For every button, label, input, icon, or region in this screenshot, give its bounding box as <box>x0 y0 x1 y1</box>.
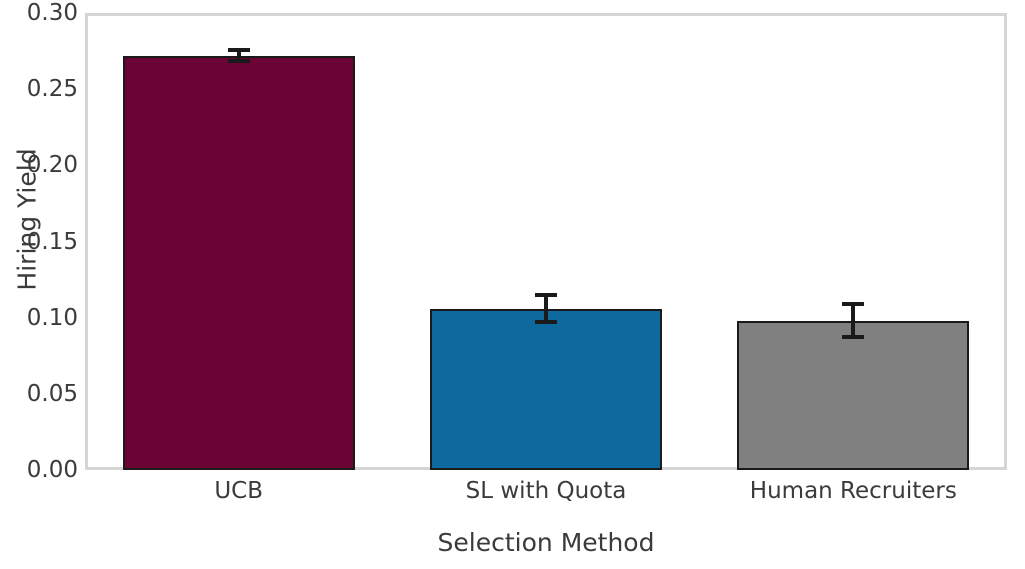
y-tick-label: 0.05 <box>4 383 78 406</box>
x-tick-label: UCB <box>85 478 392 504</box>
bar-chart-figure: 0.000.050.100.150.200.250.30 Hiring Yiel… <box>0 0 1025 569</box>
error-bar-cap-top <box>535 293 557 297</box>
error-bar <box>228 48 250 63</box>
bar <box>737 321 969 470</box>
y-tick-label: 0.30 <box>4 2 78 25</box>
bar <box>430 309 662 470</box>
x-tick-label: SL with Quota <box>392 478 699 504</box>
bar <box>123 56 355 470</box>
error-bar-cap-top <box>842 302 864 306</box>
y-tick-label: 0.00 <box>4 459 78 482</box>
error-bar-stem <box>851 302 855 339</box>
error-bar-cap-bottom <box>842 335 864 339</box>
error-bar-cap-bottom <box>535 320 557 324</box>
y-axis-title: Hiring Yield <box>13 90 42 350</box>
error-bar-cap-top <box>228 48 250 52</box>
error-bar <box>842 302 864 339</box>
x-tick-label: Human Recruiters <box>700 478 1007 504</box>
error-bar-cap-bottom <box>228 59 250 63</box>
error-bar <box>535 293 557 323</box>
x-axis-title: Selection Method <box>85 528 1007 557</box>
